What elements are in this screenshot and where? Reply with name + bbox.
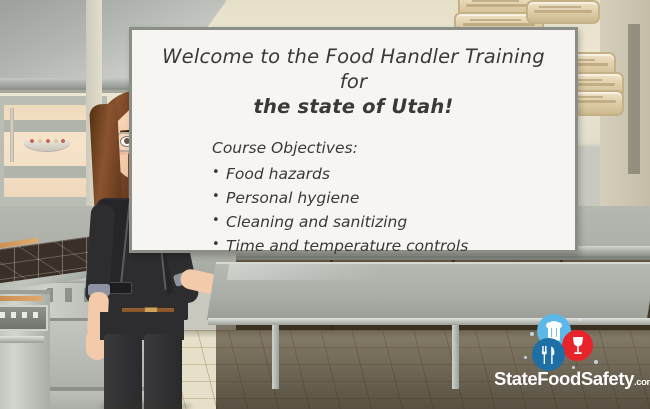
warmer-window bbox=[0, 305, 48, 331]
sparkle bbox=[578, 318, 581, 321]
heading-line-2: the state of Utah! bbox=[152, 94, 555, 119]
logo-tld: .com bbox=[634, 377, 650, 388]
sparkle bbox=[524, 356, 527, 359]
sparkle bbox=[594, 360, 598, 364]
alcove-rail bbox=[10, 108, 14, 162]
character-shadow bbox=[100, 402, 192, 409]
fork-knife-icon bbox=[532, 338, 565, 371]
warmer-handle bbox=[0, 336, 44, 343]
warmer-indicator-lights bbox=[0, 312, 40, 318]
leg-left bbox=[104, 334, 142, 409]
prep-table-leg bbox=[272, 325, 279, 389]
plated-food bbox=[29, 139, 65, 143]
list-item: Time and temperature controls bbox=[212, 234, 555, 258]
prep-table-leg bbox=[452, 325, 459, 389]
objectives-list: Food hazards Personal hygiene Cleaning a… bbox=[212, 162, 555, 258]
logo-brand: StateFoodSafety bbox=[494, 368, 634, 389]
heading-line-1: Welcome to the Food Handler Training for bbox=[152, 44, 555, 94]
list-item: Personal hygiene bbox=[212, 186, 555, 210]
logo-wordmark: StateFoodSafety.com™ bbox=[494, 368, 646, 390]
statefoodsafety-logo[interactable]: StateFoodSafety.com™ bbox=[494, 312, 646, 400]
slide-canvas: Welcome to the Food Handler Training for… bbox=[0, 0, 650, 409]
wine-glass-icon bbox=[562, 330, 593, 361]
slide-content-panel: Welcome to the Food Handler Training for… bbox=[129, 27, 578, 253]
objectives-block: Course Objectives: Food hazards Personal… bbox=[152, 136, 555, 258]
sparkle bbox=[530, 332, 534, 336]
objectives-title: Course Objectives: bbox=[212, 136, 555, 160]
list-item: Cleaning and sanitizing bbox=[212, 210, 555, 234]
page-title: Welcome to the Food Handler Training for… bbox=[152, 44, 555, 119]
basket-icon bbox=[526, 0, 600, 24]
list-item: Food hazards bbox=[212, 162, 555, 186]
warmer-copper-trim bbox=[0, 296, 42, 301]
prep-table-highlight bbox=[227, 264, 380, 280]
leg-right bbox=[144, 334, 182, 409]
